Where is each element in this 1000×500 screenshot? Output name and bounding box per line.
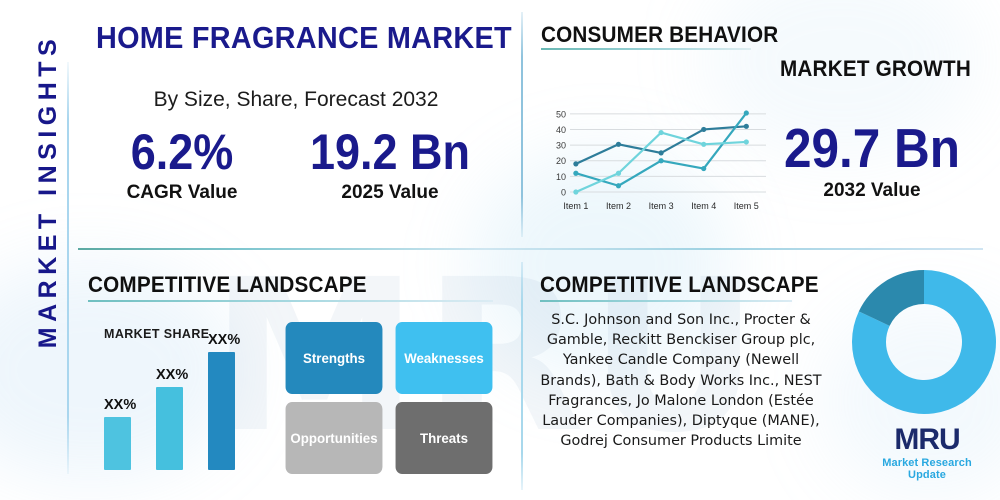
bar-item: XX%: [156, 387, 183, 470]
bar-rect: [208, 352, 235, 470]
mru-logo: MRU Market Research Update: [862, 424, 992, 481]
swot-box-threats[interactable]: Threats: [396, 402, 493, 474]
company-list: S.C. Johnson and Son Inc., Procter & Gam…: [532, 310, 830, 451]
donut-chart-svg: [848, 268, 1000, 416]
stat-2025-label: 2025 Value: [290, 182, 490, 204]
logo-tagline: Market Research Update: [862, 457, 992, 481]
page-subtitle: By Size, Share, Forecast 2032: [96, 88, 496, 112]
x-axis-tick: Item 1: [563, 201, 588, 211]
swot-box-weaknesses[interactable]: Weaknesses: [396, 322, 493, 394]
y-axis-tick: 40: [556, 125, 566, 135]
market-share-label: MARKET SHARE: [104, 327, 210, 341]
section-rule-consumer-behavior: [541, 48, 751, 50]
bar-value-label: XX%: [104, 397, 131, 413]
bar-item: XX%: [208, 352, 235, 470]
divider-vertical-left: [67, 62, 69, 474]
stat-2032-label: 2032 Value: [757, 180, 987, 202]
swot-box-strengths[interactable]: Strengths: [286, 322, 383, 394]
stat-2025: 19.2 Bn 2025 Value: [290, 124, 490, 204]
page-title: HOME FRAGRANCE MARKET: [96, 20, 468, 56]
infographic-canvas: MRU MARKET INSIGHTS HOME FRAGRANCE MARKE…: [0, 0, 1000, 500]
section-rule-competitive-landscape-right: [540, 300, 792, 302]
y-axis-tick: 30: [556, 141, 566, 151]
swot-box-opportunities[interactable]: Opportunities: [286, 402, 383, 474]
bar-value-label: XX%: [156, 367, 183, 383]
bar-rect: [156, 387, 183, 470]
y-axis-tick: 10: [556, 172, 566, 182]
section-rule-competitive-landscape-left: [88, 300, 493, 302]
stat-cagr-value: 6.2%: [105, 124, 260, 180]
bar-item: XX%: [104, 417, 131, 470]
section-heading-consumer-behavior: CONSUMER BEHAVIOR: [541, 22, 778, 48]
swot-grid: StrengthsWeaknessesOpportunitiesThreats: [283, 322, 495, 474]
stat-cagr-label: CAGR Value: [96, 182, 268, 204]
market-share-bar-chart: XX%XX%XX%: [104, 340, 264, 470]
section-heading-competitive-landscape-left: COMPETITIVE LANDSCAPE: [88, 272, 367, 298]
section-heading-market-growth: MARKET GROWTH: [780, 56, 971, 82]
line-chart: 01020304050Item 1Item 2Item 3Item 4Item …: [548, 100, 770, 218]
sidebar-label: MARKET INSIGHTS: [34, 34, 63, 348]
divider-vertical-top-mid: [521, 12, 523, 237]
y-axis-tick: 20: [556, 156, 566, 166]
bar-rect: [104, 417, 131, 470]
stat-2032: 29.7 Bn 2032 Value: [757, 118, 987, 202]
x-axis-tick: Item 4: [691, 201, 716, 211]
x-axis-tick: Item 3: [649, 201, 674, 211]
x-axis-tick: Item 5: [734, 201, 759, 211]
logo-mark: MRU: [862, 424, 992, 456]
sidebar-market-insights: MARKET INSIGHTS: [25, 0, 71, 401]
line-chart-svg: 01020304050Item 1Item 2Item 3Item 4Item …: [548, 100, 770, 218]
section-heading-competitive-landscape-right: COMPETITIVE LANDSCAPE: [540, 272, 819, 298]
stat-2032-value: 29.7 Bn: [769, 118, 976, 178]
stat-2025-value: 19.2 Bn: [300, 124, 480, 180]
x-axis-tick: Item 2: [606, 201, 631, 211]
y-axis-tick: 0: [561, 188, 566, 198]
divider-horizontal-main: [78, 248, 983, 250]
y-axis-tick: 50: [556, 109, 566, 119]
divider-vertical-bottom-mid: [521, 262, 523, 490]
stat-cagr: 6.2% CAGR Value: [96, 124, 268, 204]
donut-chart: [848, 268, 1000, 416]
bar-value-label: XX%: [208, 332, 235, 348]
